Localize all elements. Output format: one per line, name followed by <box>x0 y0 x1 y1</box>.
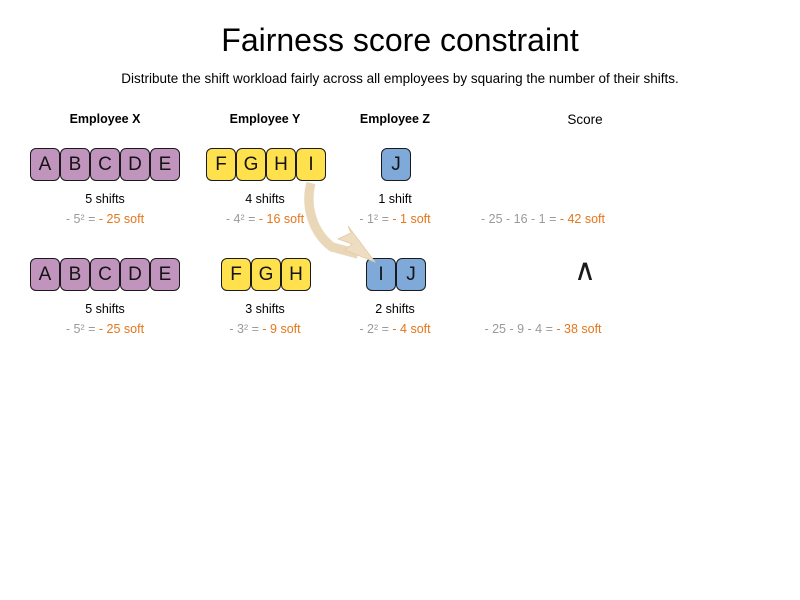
shift-block[interactable]: D <box>120 258 150 291</box>
shift-blocks-row1-employee-y: F G H I <box>206 148 326 181</box>
shift-block[interactable]: G <box>251 258 281 291</box>
score-row2-employee-y: - 3² = - 9 soft <box>205 322 325 336</box>
total-score-expression: - 25 - 9 - 4 = <box>484 322 556 336</box>
shift-block[interactable]: E <box>150 258 180 291</box>
score-expression: - 1² = <box>359 212 392 226</box>
column-header-employee-y: Employee Y <box>205 112 325 126</box>
shift-count-row2-employee-z: 2 shifts <box>335 302 455 316</box>
shift-block[interactable]: B <box>60 258 90 291</box>
score-expression: - 3² = <box>229 322 262 336</box>
score-soft-value: - 1 soft <box>392 212 430 226</box>
score-soft-value: - 25 soft <box>99 322 144 336</box>
shift-block[interactable]: C <box>90 148 120 181</box>
score-row2-employee-z: - 2² = - 4 soft <box>335 322 455 336</box>
score-row1-employee-z: - 1² = - 1 soft <box>335 212 455 226</box>
shift-block[interactable]: A <box>30 148 60 181</box>
column-header-score: Score <box>505 112 665 127</box>
shift-blocks-row1-employee-z: J <box>381 148 411 181</box>
shift-blocks-row2-employee-y: F G H <box>221 258 311 291</box>
total-score-row2: - 25 - 9 - 4 = - 38 soft <box>463 322 623 336</box>
shift-block[interactable]: H <box>281 258 311 291</box>
page-subtitle: Distribute the shift workload fairly acr… <box>0 71 800 86</box>
shift-block[interactable]: J <box>396 258 426 291</box>
page-title: Fairness score constraint <box>0 22 800 59</box>
shift-block[interactable]: I <box>296 148 326 181</box>
column-header-employee-z: Employee Z <box>335 112 455 126</box>
shift-block[interactable]: F <box>206 148 236 181</box>
total-score-soft-value: - 38 soft <box>556 322 601 336</box>
move-shift-arrow-layer <box>0 0 800 600</box>
shift-count-row1-employee-x: 5 shifts <box>30 192 180 206</box>
shift-block[interactable]: I <box>366 258 396 291</box>
score-expression: - 5² = <box>66 322 99 336</box>
shift-block[interactable]: A <box>30 258 60 291</box>
shift-block[interactable]: F <box>221 258 251 291</box>
score-soft-value: - 16 soft <box>259 212 304 226</box>
shift-block[interactable]: H <box>266 148 296 181</box>
improvement-caret-icon: ∧ <box>545 256 625 286</box>
shift-block[interactable]: C <box>90 258 120 291</box>
shift-block[interactable]: D <box>120 148 150 181</box>
score-row2-employee-x: - 5² = - 25 soft <box>30 322 180 336</box>
shift-count-row2-employee-x: 5 shifts <box>30 302 180 316</box>
score-expression: - 2² = <box>359 322 392 336</box>
score-soft-value: - 9 soft <box>262 322 300 336</box>
total-score-soft-value: - 42 soft <box>560 212 605 226</box>
shift-count-row1-employee-y: 4 shifts <box>205 192 325 206</box>
shift-block[interactable]: G <box>236 148 266 181</box>
shift-block[interactable]: E <box>150 148 180 181</box>
score-row1-employee-y: - 4² = - 16 soft <box>205 212 325 226</box>
total-score-row1: - 25 - 16 - 1 = - 42 soft <box>463 212 623 226</box>
total-score-expression: - 25 - 16 - 1 = <box>481 212 560 226</box>
shift-blocks-row2-employee-z: I J <box>366 258 426 291</box>
shift-count-row2-employee-y: 3 shifts <box>205 302 325 316</box>
shift-blocks-row2-employee-x: A B C D E <box>30 258 180 291</box>
shift-block[interactable]: J <box>381 148 411 181</box>
column-header-employee-x: Employee X <box>30 112 180 126</box>
score-soft-value: - 4 soft <box>392 322 430 336</box>
score-row1-employee-x: - 5² = - 25 soft <box>30 212 180 226</box>
score-expression: - 4² = <box>226 212 259 226</box>
score-soft-value: - 25 soft <box>99 212 144 226</box>
shift-block[interactable]: B <box>60 148 90 181</box>
score-expression: - 5² = <box>66 212 99 226</box>
shift-blocks-row1-employee-x: A B C D E <box>30 148 180 181</box>
shift-count-row1-employee-z: 1 shift <box>335 192 455 206</box>
